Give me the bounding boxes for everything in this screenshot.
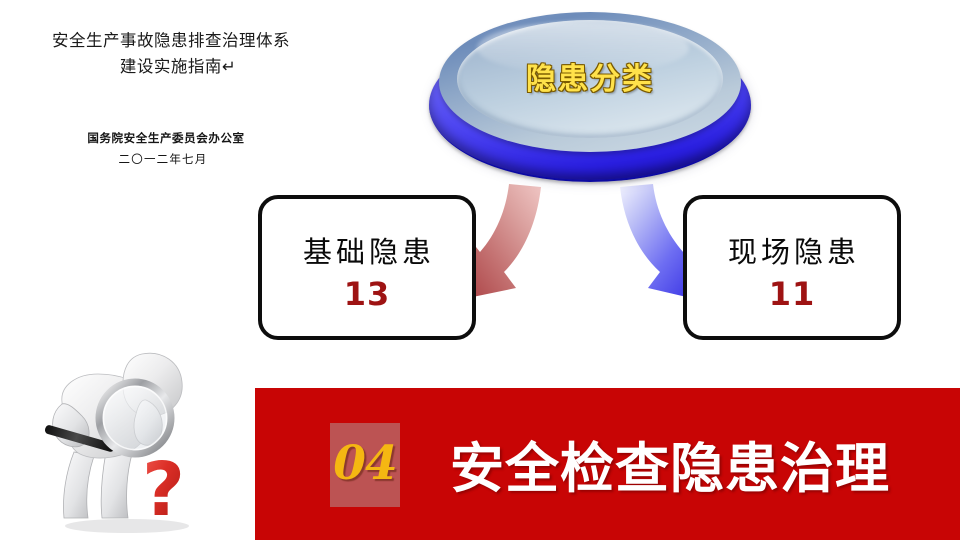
category-count-basic-hazards: 13 <box>262 275 472 313</box>
document-issuer-block: 国务院安全生产委员会办公室 二〇一二年七月 <box>16 128 316 169</box>
category-box-site-hazards: 现场隐患 11 <box>683 195 901 340</box>
document-issuer: 国务院安全生产委员会办公室 <box>16 128 316 149</box>
figure-left-leg <box>63 452 94 518</box>
document-date: 二〇一二年七月 <box>10 149 316 170</box>
category-label-basic-hazards: 基础隐患 <box>262 229 472 271</box>
category-box-basic-hazards: 基础隐患 13 <box>258 195 476 340</box>
section-banner: 04 安全检查隐患治理 <box>255 388 960 540</box>
question-mark-icon: ? <box>142 447 185 533</box>
root-node-label: 隐患分类 <box>425 54 755 98</box>
slide-canvas: 安全生产事故隐患排查治理体系 建设实施指南↵ 国务院安全生产委员会办公室 二〇一… <box>0 0 960 540</box>
document-title-block: 安全生产事故隐患排查治理体系 建设实施指南↵ <box>16 28 326 79</box>
section-number: 04 <box>330 436 400 491</box>
category-count-site-hazards: 11 <box>687 275 897 313</box>
category-label-site-hazards: 现场隐患 <box>687 229 897 271</box>
section-title: 安全检查隐患治理 <box>450 424 890 503</box>
magnifier-figure-illustration: ? <box>22 340 232 540</box>
figure-right-leg <box>101 452 132 518</box>
document-title-line-2: 建设实施指南↵ <box>30 54 326 80</box>
section-number-box: 04 <box>330 423 400 507</box>
document-title-line-1: 安全生产事故隐患排查治理体系 <box>16 28 326 54</box>
question-mark-glyph: ? <box>142 447 185 533</box>
root-node-disc: 隐患分类 <box>425 8 755 190</box>
